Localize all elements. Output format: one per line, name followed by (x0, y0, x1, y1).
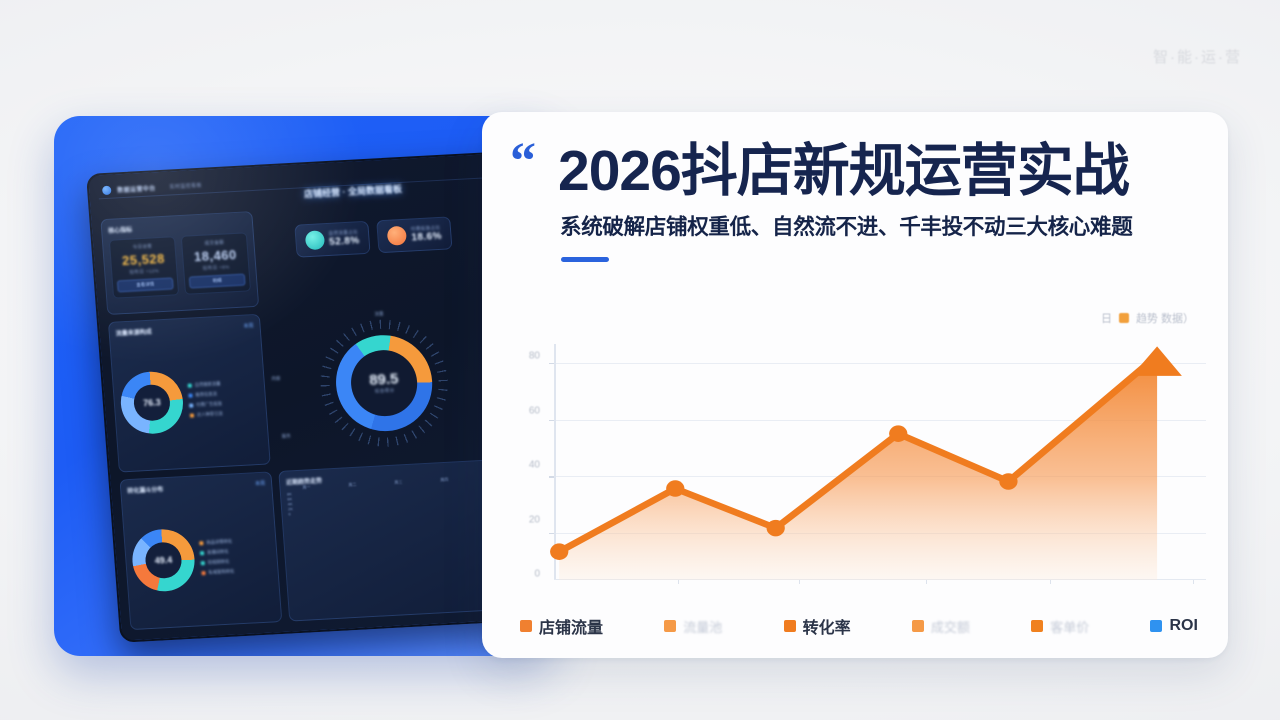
gauge-tick-ring (315, 315, 452, 450)
quote-icon: “ (510, 142, 536, 181)
chart-data-point (550, 543, 568, 560)
legend-label: 店铺流量 (539, 614, 603, 638)
mini-chart-y-axis: 8K 6K 4K 2K 0 (287, 491, 301, 492)
pill-value: 52.8% (329, 235, 360, 248)
pill-label: 自然流量占比 (328, 229, 359, 237)
trend-card: 近期趋势走势 8K 6K 4K 2K 0 (278, 459, 513, 622)
legend-swatch (520, 620, 532, 632)
gauge-chart: 89.5 综合得分 (333, 332, 436, 433)
center-metrics-area: 自然流量占比 52.8% 付费投放占比 18.6% (259, 199, 490, 307)
chart-plot-area (554, 344, 1206, 580)
chart-data-point (666, 480, 684, 497)
dashboard-showcase-panel: 数据运营中台 实时监控看板 店铺经营 · 全局数据看板 管理员 运营者 核心指标 (54, 116, 554, 656)
legend-label: ROI (1169, 617, 1197, 635)
legend-swatch (1031, 620, 1043, 632)
metric-pill: 自然流量占比 52.8% (294, 221, 371, 258)
kpi-label: 成交金额 (186, 239, 242, 248)
legend-entry: 推荐信息流 (188, 390, 221, 398)
x-tickmark (926, 580, 928, 584)
dashboard-nav-item[interactable]: 实时监控看板 (169, 182, 202, 191)
mini-chart-x-axis: 周一 周二 周三 周四 周五 (302, 474, 494, 490)
chart-data-point (889, 425, 907, 442)
legend-entry: 达人种草引流 (190, 410, 223, 418)
legend-swatch (664, 620, 676, 632)
x-tickmark (1050, 580, 1052, 584)
legend-entry: 自然搜索流量 (188, 381, 221, 389)
kpi-card-title: 核心指标 (108, 225, 133, 235)
dashboard-logo-icon (102, 186, 112, 195)
traffic-source-card: 流量来源构成 本周 76.3 自然搜索流量 推荐信息流 付费广告投放 达人种草引… (108, 314, 271, 473)
legend-entry: 付费广告投放 (189, 400, 222, 408)
kpi-label: 今日访客 (114, 243, 170, 252)
donut-legend: 自然搜索流量 推荐信息流 付费广告投放 达人种草引流 (188, 381, 223, 419)
donut-center-value: 49.4 (154, 554, 172, 565)
gauge-unit: 综合得分 (370, 387, 400, 395)
chart-data-point (999, 473, 1017, 490)
pill-gauge-icon (304, 230, 324, 250)
legend-swatch (784, 620, 796, 632)
chart-header-swatch (1119, 313, 1129, 323)
gauge-label: 服务 (282, 433, 291, 439)
score-gauge-panel: 89.5 综合得分 流量 转化 复购 服务 内容 (267, 301, 502, 464)
kpi-tile: 今日访客 25,528 较昨日 +12% 查看详情 (109, 236, 179, 298)
gauge-label: 流量 (374, 311, 383, 317)
page-subtitle: 系统破解店铺权重低、自然流不进、千丰投不动三大核心难题 (560, 210, 1194, 241)
chart-data-point (767, 520, 785, 537)
calendar-icon[interactable]: 日 (1101, 310, 1112, 326)
page-title: 2026抖店新规运营实战 (558, 142, 1194, 200)
legend-label: 客单价 (1050, 617, 1089, 636)
legend-entry: 短视频转化 (201, 558, 234, 566)
dashboard-brand: 数据运营中台 (117, 183, 156, 194)
legend-item-store-traffic[interactable]: 店铺流量 (520, 614, 603, 638)
conversion-card-action[interactable]: 本周 (255, 480, 266, 488)
gauge-label: 内容 (271, 376, 280, 382)
trend-card-title: 近期趋势走势 (286, 476, 323, 487)
legend-swatch (912, 620, 924, 632)
traffic-card-action[interactable]: 本周 (243, 322, 254, 330)
metric-pill-row: 自然流量占比 52.8% 付费投放占比 18.6% (259, 199, 486, 260)
kpi-subtext: 较昨日 +8% (188, 264, 244, 273)
y-tick-label: 40 (529, 460, 540, 471)
donut-center-value: 76.3 (143, 397, 161, 408)
pill-value: 18.6% (411, 231, 442, 244)
x-tickmark (678, 580, 680, 584)
legend-item-traffic-pool[interactable]: 流量池 (664, 617, 722, 636)
conversion-card-title: 转化漏斗分布 (127, 484, 164, 495)
traffic-card-title: 流量来源构成 (115, 327, 152, 338)
legend-entry: 商品详情转化 (199, 538, 232, 546)
watermark-text: 智·能·运·营 (1153, 46, 1242, 67)
legend-entry: 直播间转化 (200, 548, 233, 556)
mini-area-chart: 8K 6K 4K 2K 0 (287, 480, 497, 491)
legend-entry: 私域复购转化 (201, 568, 234, 576)
y-tick-label: 0 (534, 569, 540, 580)
legend-label: 转化率 (803, 614, 851, 638)
x-tickmark (799, 580, 801, 584)
chart-trend-arrowhead (1132, 346, 1182, 376)
accent-divider (561, 257, 609, 262)
kpi-tile: 成交金额 18,460 较昨日 +8% 明细 (181, 232, 251, 294)
legend-swatch (1150, 620, 1162, 632)
gauge-value: 89.5 (369, 370, 399, 389)
chart-y-axis-labels: 0 20 40 60 80 (510, 356, 544, 574)
donut-legend: 商品详情转化 直播间转化 短视频转化 私域复购转化 (199, 538, 234, 576)
y-tick-label: 60 (529, 405, 540, 416)
donut-chart-conversion: 49.4 (130, 527, 196, 592)
kpi-row: 今日访客 25,528 较昨日 +12% 查看详情 成交金额 18,460 较昨… (109, 232, 251, 298)
kpi-subtext: 较昨日 +12% (116, 267, 172, 276)
chart-header-label: 趋势 数据） (1136, 310, 1194, 326)
x-tickmark (1193, 580, 1195, 584)
chart-legend: 店铺流量 流量池 转化率 成交额 客单价 ROI (520, 614, 1198, 638)
donut-chart-traffic: 76.3 (119, 370, 185, 435)
legend-item-roi[interactable]: ROI (1150, 617, 1197, 635)
legend-label: 成交额 (931, 617, 970, 636)
growth-chart: 0 20 40 60 80 (510, 338, 1206, 606)
kpi-detail-button[interactable]: 明细 (189, 274, 246, 289)
mini-area-svg (303, 482, 495, 492)
kpi-value: 18,460 (187, 247, 244, 265)
legend-item-aov[interactable]: 客单价 (1031, 617, 1089, 636)
legend-label: 流量池 (683, 617, 722, 636)
kpi-value: 25,528 (115, 251, 172, 269)
content-card: “ 2026抖店新规运营实战 系统破解店铺权重低、自然流不进、千丰投不动三大核心… (482, 112, 1228, 658)
growth-chart-svg (554, 344, 1206, 580)
legend-item-gmv[interactable]: 成交额 (912, 617, 970, 636)
kpi-detail-button[interactable]: 查看详情 (117, 277, 174, 292)
dashboard-center-title: 店铺经营 · 全局数据看板 (304, 182, 403, 200)
chart-header: 日 趋势 数据） (1101, 310, 1194, 326)
kpi-card: 核心指标 今日访客 25,528 较昨日 +12% 查看详情 成交金额 18,4… (100, 211, 259, 315)
legend-item-conversion-rate[interactable]: 转化率 (784, 614, 851, 638)
pill-gauge-icon (387, 226, 407, 246)
conversion-card: 转化漏斗分布 本周 49.4 商品详情转化 直播间转化 短视频转化 私域复购转化 (119, 471, 282, 630)
y-tick-label: 80 (529, 351, 540, 362)
y-tick-label: 20 (529, 514, 540, 525)
metric-pill: 付费投放占比 18.6% (376, 216, 453, 253)
pill-label: 付费投放占比 (411, 225, 442, 233)
